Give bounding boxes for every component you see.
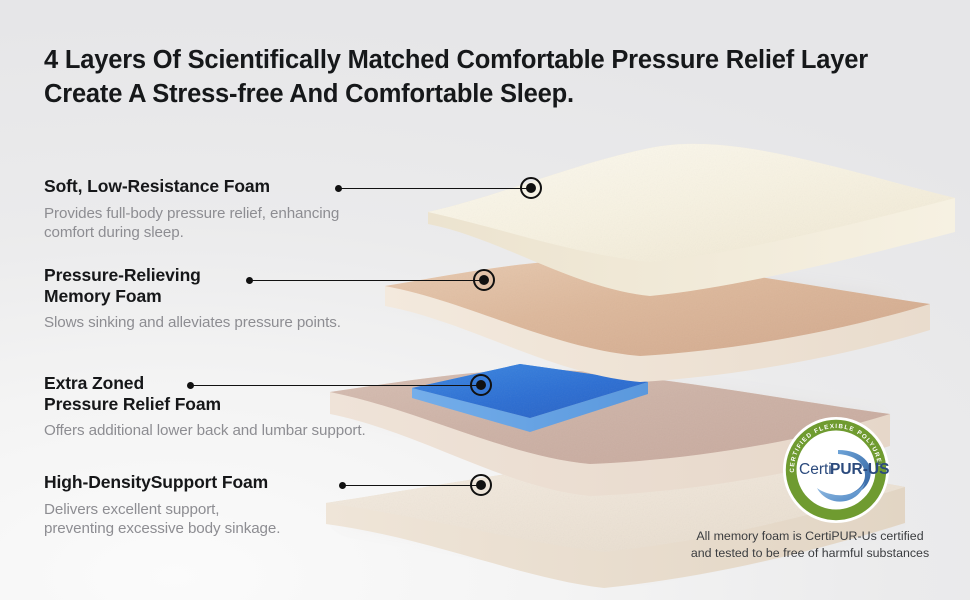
badge-wordmark-secondary: PUR-US xyxy=(830,461,889,478)
certification-footnote: All memory foam is CertiPUR-Us certified… xyxy=(660,528,960,562)
infographic-canvas: 4 Layers Of Scientifically Matched Comfo… xyxy=(0,0,970,600)
callout-description: Delivers excellent support, preventing e… xyxy=(44,500,474,539)
callout-description: Slows sinking and alleviates pressure po… xyxy=(44,313,474,332)
marker-dot-icon xyxy=(479,275,489,285)
leader-stroke xyxy=(338,188,528,189)
marker-dot-icon xyxy=(526,183,536,193)
leader-line-3 xyxy=(187,378,482,392)
marker-dot-icon xyxy=(476,380,486,390)
leader-stroke xyxy=(190,385,480,386)
badge-registered-mark: ® xyxy=(876,461,881,468)
callout-description: Offers additional lower back and lumbar … xyxy=(44,421,494,440)
callout-description: Provides full-body pressure relief, enha… xyxy=(44,204,474,243)
layer-marker-3[interactable] xyxy=(470,374,492,396)
marker-dot-icon xyxy=(476,480,486,490)
leader-line-1 xyxy=(335,181,530,195)
layer-marker-2[interactable] xyxy=(473,269,495,291)
leader-line-4 xyxy=(339,478,482,492)
leader-stroke xyxy=(249,280,482,281)
badge-wordmark: Certi PUR-US ® xyxy=(799,461,889,478)
badge-wordmark-primary: Certi xyxy=(799,461,832,478)
leader-line-2 xyxy=(246,273,484,287)
layer-marker-4[interactable] xyxy=(470,474,492,496)
leader-stroke xyxy=(342,485,480,486)
certipur-us-badge: CONTAINS CERTIFIED FLEXIBLE POLYURETHANE… xyxy=(782,416,890,524)
layer-marker-1[interactable] xyxy=(520,177,542,199)
